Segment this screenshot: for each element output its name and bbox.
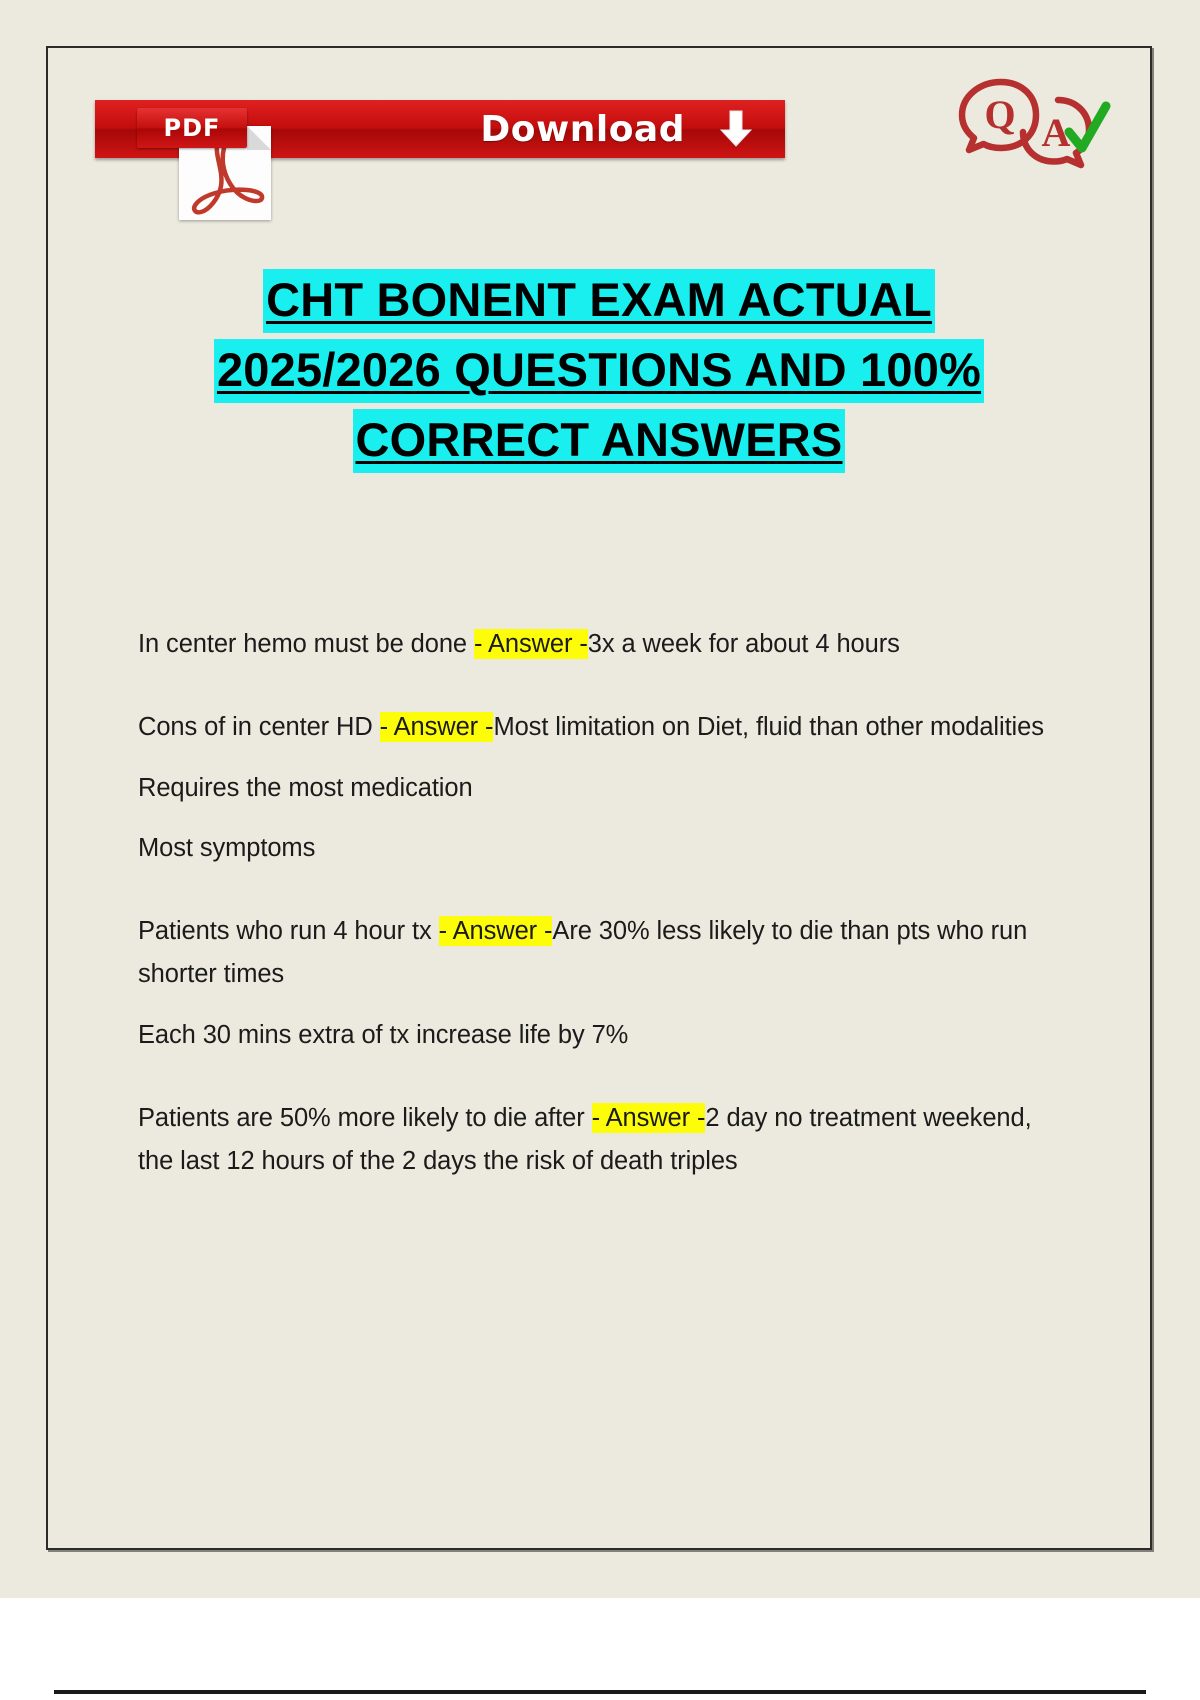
bottom-divider <box>54 1690 1146 1694</box>
answer-marker: - Answer - <box>439 916 553 946</box>
qa-extra-line: Most symptoms <box>138 827 1068 870</box>
answer-text: Most limitation on Diet, fluid than othe… <box>493 713 1043 741</box>
qa-block: Cons of in center HD - Answer -Most limi… <box>138 706 1068 870</box>
qa-question-answer-line: Patients who run 4 hour tx - Answer -Are… <box>138 910 1068 996</box>
qa-question-answer-line: Patients are 50% more likely to die afte… <box>138 1097 1068 1183</box>
title-line-2: 2025/2026 QUESTIONS AND 100% <box>48 346 1150 393</box>
qa-block: Patients who run 4 hour tx - Answer -Are… <box>138 910 1068 1056</box>
pdf-download-banner[interactable]: Download PDF <box>95 100 785 158</box>
qa-extra-line: Each 30 mins extra of tx increase life b… <box>138 1014 1068 1057</box>
question-text: Patients who run 4 hour tx <box>138 917 439 945</box>
qa-question-answer-line: In center hemo must be done - Answer -3x… <box>138 623 1068 666</box>
question-text: Cons of in center HD <box>138 713 380 741</box>
document-header: Download PDF Q A <box>48 48 1150 198</box>
question-text: Patients are 50% more likely to die afte… <box>138 1104 592 1132</box>
download-label: Download <box>480 109 685 150</box>
question-text: In center hemo must be done <box>138 630 474 658</box>
lower-white-strip <box>0 1598 1200 1700</box>
qa-content: In center hemo must be done - Answer -3x… <box>138 623 1068 1186</box>
answer-text: 3x a week for about 4 hours <box>588 630 900 658</box>
pdf-file-icon: PDF <box>137 108 269 220</box>
qa-question-answer-line: Cons of in center HD - Answer -Most limi… <box>138 706 1068 749</box>
title-text-3: CORRECT ANSWERS <box>353 409 846 473</box>
qa-block: Patients are 50% more likely to die afte… <box>138 1097 1068 1183</box>
title-text-1: CHT BONENT EXAM ACTUAL <box>263 269 935 333</box>
qa-logo: Q A <box>952 70 1112 186</box>
title-line-1: CHT BONENT EXAM ACTUAL <box>48 276 1150 323</box>
qa-block: In center hemo must be done - Answer -3x… <box>138 623 1068 666</box>
document-page: Download PDF Q A <box>46 46 1152 1550</box>
title-line-3: CORRECT ANSWERS <box>48 416 1150 463</box>
down-arrow-icon <box>719 110 753 148</box>
qa-q-letter: Q <box>984 92 1015 137</box>
answer-marker: - Answer - <box>592 1103 706 1133</box>
pdf-tag-label: PDF <box>137 108 247 148</box>
answer-marker: - Answer - <box>474 629 588 659</box>
page-title: CHT BONENT EXAM ACTUAL 2025/2026 QUESTIO… <box>48 276 1150 463</box>
qa-extra-line: Requires the most medication <box>138 767 1068 810</box>
title-text-2: 2025/2026 QUESTIONS AND 100% <box>214 339 984 403</box>
answer-marker: - Answer - <box>380 712 494 742</box>
